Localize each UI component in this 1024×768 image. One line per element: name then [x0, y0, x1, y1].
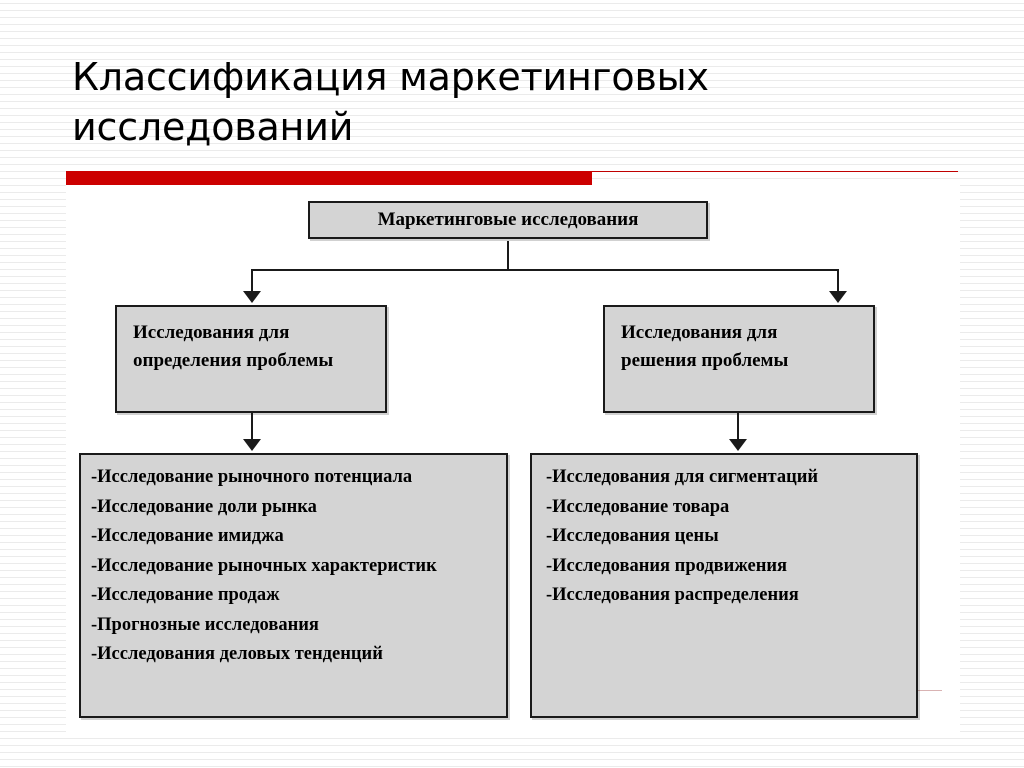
list-item: -Исследование товара: [546, 493, 910, 523]
list-item: -Исследования продвижения: [546, 552, 910, 582]
list-item: -Исследование рыночного потенциала: [91, 463, 500, 493]
diagram-canvas: Маркетинговые исследования Исследования …: [66, 185, 960, 737]
connector-split-bar: [251, 269, 839, 271]
diagram-node-root-label: Маркетинговые исследования: [324, 203, 692, 237]
diagram-node-problem-definition-list[interactable]: -Исследование рыночного потенциала-Иссле…: [79, 453, 508, 718]
diagram-node-problem-solving-list[interactable]: -Исследования для сигментаций-Исследован…: [530, 453, 918, 718]
list-item: -Исследование доли рынка: [91, 493, 500, 523]
list-item: -Исследования распределения: [546, 581, 910, 611]
connector-left-leaf-stem: [251, 413, 253, 441]
list-item: -Исследования для сигментаций: [546, 463, 910, 493]
diagram-node-problem-solving[interactable]: Исследования для решения проблемы: [603, 305, 875, 413]
arrowhead-down-icon-left-top: [243, 291, 261, 303]
problem-definition-item-list: -Исследование рыночного потенциала-Иссле…: [91, 463, 500, 670]
list-item: -Исследование имиджа: [91, 522, 500, 552]
connector-left-branch: [251, 269, 253, 293]
problem-solving-item-list: -Исследования для сигментаций-Исследован…: [546, 463, 910, 611]
arrowhead-down-icon-right-bottom: [729, 439, 747, 451]
diagram-node-problem-definition-label: Исследования для определения проблемы: [133, 319, 369, 375]
list-item: -Исследование рыночных характеристик: [91, 552, 500, 582]
arrowhead-down-icon-left-bottom: [243, 439, 261, 451]
diagram-node-problem-solving-label: Исследования для решения проблемы: [621, 319, 857, 375]
title-rule-thick-bar: [66, 171, 592, 185]
list-item: -Исследования деловых тенденций: [91, 640, 500, 670]
list-item: -Исследование продаж: [91, 581, 500, 611]
list-item: -Исследования цены: [546, 522, 910, 552]
diagram-node-problem-definition[interactable]: Исследования для определения проблемы: [115, 305, 387, 413]
connector-right-branch: [837, 269, 839, 293]
page-title: Классификация маркетинговых исследований: [72, 52, 952, 152]
diagram-node-root[interactable]: Маркетинговые исследования: [308, 201, 708, 239]
arrowhead-down-icon-right-top: [829, 291, 847, 303]
list-item: -Прогнозные исследования: [91, 611, 500, 641]
connector-right-leaf-stem: [737, 413, 739, 441]
connector-root-stem: [507, 241, 509, 271]
title-underline-rule: [66, 171, 958, 185]
